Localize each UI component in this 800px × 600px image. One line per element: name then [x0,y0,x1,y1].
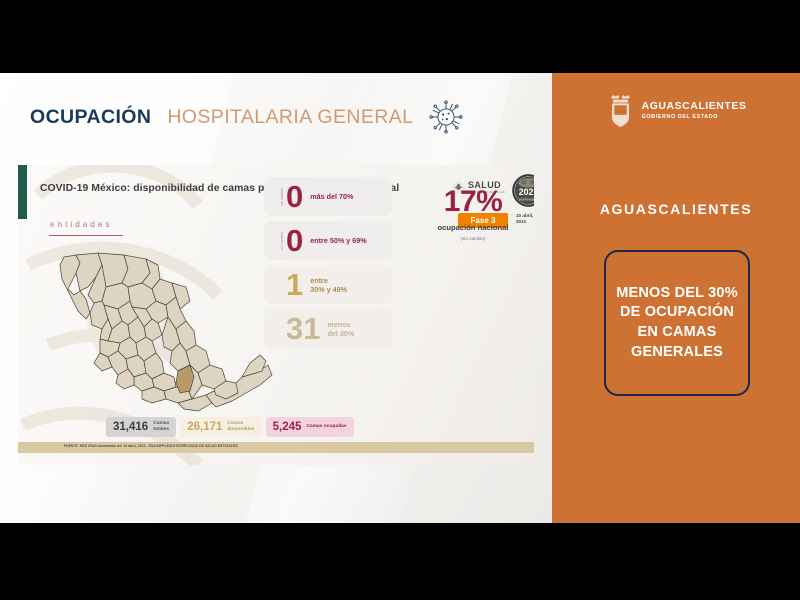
card-value: 0 [286,181,303,212]
bed-stat: 5,245 Camas ocupadas [266,417,354,437]
header-title-light: HOSPITALARIA GENERAL [167,106,413,129]
card-vertical-label: sin cambio [280,231,284,249]
national-occupancy: 17% ocupación nacional (sin cambio) [418,187,528,241]
bed-label: Camas totales [153,421,169,433]
card-label: menos del 30% [327,320,354,338]
card-value: 0 [286,225,303,256]
entidades-label: entidades [50,220,113,229]
header-title-bold: OCUPACIÓN [30,106,151,129]
bed-number: 5,245 [273,421,302,433]
occupancy-cards: sin cambio 0 más del 70% sin cambio 0 en… [264,177,392,353]
card-value: 31 [286,313,320,344]
slide-header: OCUPACIÓN HOSPITALARIA GENERAL [30,100,463,134]
card-label: entre 30% y 49% [310,276,347,294]
presentation-slide: OCUPACIÓN HOSPITALARIA GENERAL [0,73,800,523]
government-brand: AGUASCALIENTES GOBIERNO DEL ESTADO [552,93,800,129]
card-label-line1: entre [310,276,347,285]
card-label-line2: del 30% [327,329,354,338]
card-label: más del 70% [310,192,353,201]
government-subtitle: GOBIERNO DEL ESTADO [642,115,747,121]
card-row: 1 entre 30% y 49% [264,265,392,304]
status-message-box: MENOS DEL 30% DE OCUPACIÓN EN CAMAS GENE… [604,250,750,396]
card-label-line1: más del 70% [310,192,353,201]
source-text: FUENTE: RED IRAG acumulado del 10 abril,… [64,444,238,448]
mexico-map [46,243,286,428]
card-label-line1: menos [327,320,354,329]
bed-label-line1: Camas ocupadas [306,424,346,430]
card-vertical-label: sin cambio [280,187,284,205]
state-title: AGUASCALIENTES [552,201,800,217]
card-row: sin cambio 0 entre 50% y 69% [264,221,392,260]
screenshot-stage: OCUPACIÓN HOSPITALARIA GENERAL [0,0,800,600]
national-note: (sin cambio) [418,236,528,241]
aguascalientes-coat-of-arms-icon [606,93,635,129]
card-row: 31 menos del 30% [264,309,392,348]
entidades-underline [49,235,123,236]
bed-number: 26,171 [187,421,222,433]
left-content-panel: OCUPACIÓN HOSPITALARIA GENERAL [0,73,552,523]
national-label: ocupación nacional [418,223,528,232]
card-label-line2: 30% y 49% [310,285,347,294]
government-name: AGUASCALIENTES [642,102,747,113]
bed-number: 31,416 [113,421,148,433]
beds-summary: 31,416 Camas totales 26,171 Camas dispon… [106,417,354,437]
bed-label: Camas disponibles [227,421,254,433]
status-message-text: MENOS DEL 30% DE OCUPACIÓN EN CAMAS GENE… [612,284,742,362]
report-card: COVID-19 México: disponibilidad de camas… [18,165,534,465]
green-accent-bar [18,165,27,219]
right-orange-panel: AGUASCALIENTES GOBIERNO DEL ESTADO AGUAS… [552,73,800,523]
card-label-line1: entre 50% y 69% [310,236,366,245]
card-value: 1 [286,269,303,300]
mexico-map-svg [46,243,286,428]
bed-stat: 31,416 Camas totales [106,417,176,437]
bed-label-line2: totales [153,427,169,433]
national-percent: 17% [418,187,528,217]
bed-stat: 26,171 Camas disponibles [180,417,261,437]
coronavirus-icon [429,100,463,134]
bed-label: Camas ocupadas [306,424,346,430]
card-row: sin cambio 0 más del 70% [264,177,392,216]
bed-label-line2: disponibles [227,427,254,433]
card-label: entre 50% y 69% [310,236,366,245]
